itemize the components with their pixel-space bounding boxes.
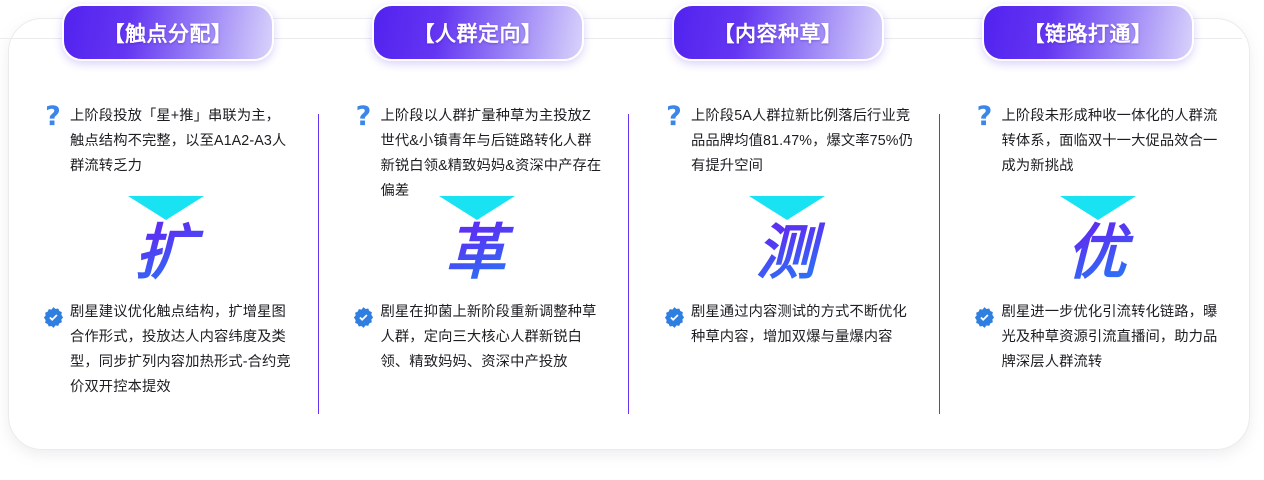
verified-check-icon xyxy=(347,300,381,329)
stage-column-4: ? 上阶段未形成种收一体化的人群流转体系，面临双十一大促品效合一成为新挑战 优 … xyxy=(940,18,1251,450)
stage-column-2: ? 上阶段以人群扩量种草为主投放Z世代&小镇青年与后链路转化人群新锐白领&精致妈… xyxy=(319,18,630,450)
verified-check-icon xyxy=(968,300,1002,329)
problem-text-1: 上阶段投放「星+推」串联为主，触点结构不完整，以至A1A2-A3人群流转乏力 xyxy=(70,104,294,179)
solution-text-2: 剧星在抑菌上新阶段重新调整种草人群，定向三大核心人群新锐白领、精致妈妈、资深中产… xyxy=(381,300,605,375)
stage-glyph-4: 优 xyxy=(1032,218,1162,288)
question-mark-icon: ? xyxy=(36,104,70,128)
verified-check-icon xyxy=(657,300,691,329)
problem-text-4: 上阶段未形成种收一体化的人群流转体系，面临双十一大促品效合一成为新挑战 xyxy=(1002,104,1226,179)
question-mark-icon: ? xyxy=(968,104,1002,128)
stage-glyph-1: 扩 xyxy=(100,218,230,288)
solution-block-4: 剧星进一步优化引流转化链路，曝光及种草资源引流直播间，助力品牌深层人群流转 xyxy=(968,300,1226,375)
solution-text-4: 剧星进一步优化引流转化链路，曝光及种草资源引流直播间，助力品牌深层人群流转 xyxy=(1002,300,1226,375)
question-mark-icon: ? xyxy=(347,104,381,128)
stage-column-1: ? 上阶段投放「星+推」串联为主，触点结构不完整，以至A1A2-A3人群流转乏力… xyxy=(8,18,319,450)
stage-column-3: ? 上阶段5A人群拉新比例落后行业竞品品牌均值81.47%，爆文率75%仍有提升… xyxy=(629,18,940,450)
problem-block-4: ? 上阶段未形成种收一体化的人群流转体系，面临双十一大促品效合一成为新挑战 xyxy=(968,104,1226,179)
solution-block-1: 剧星建议优化触点结构，扩增星图合作形式，投放达人内容纬度及类型，同步扩列内容加热… xyxy=(36,300,294,400)
verified-check-icon xyxy=(36,300,70,329)
stage-glyph-3: 测 xyxy=(721,218,851,288)
stage-columns: ? 上阶段投放「星+推」串联为主，触点结构不完整，以至A1A2-A3人群流转乏力… xyxy=(8,18,1250,450)
down-triangle-icon-1 xyxy=(128,196,204,220)
solution-text-3: 剧星通过内容测试的方式不断优化种草内容，增加双爆与量爆内容 xyxy=(691,300,915,350)
problem-block-1: ? 上阶段投放「星+推」串联为主，触点结构不完整，以至A1A2-A3人群流转乏力 xyxy=(36,104,294,179)
solution-text-1: 剧星建议优化触点结构，扩增星图合作形式，投放达人内容纬度及类型，同步扩列内容加热… xyxy=(70,300,294,400)
problem-block-2: ? 上阶段以人群扩量种草为主投放Z世代&小镇青年与后链路转化人群新锐白领&精致妈… xyxy=(347,104,605,204)
problem-text-3: 上阶段5A人群拉新比例落后行业竞品品牌均值81.47%，爆文率75%仍有提升空间 xyxy=(691,104,915,179)
question-mark-icon: ? xyxy=(657,104,691,128)
problem-block-3: ? 上阶段5A人群拉新比例落后行业竞品品牌均值81.47%，爆文率75%仍有提升… xyxy=(657,104,915,179)
infographic-stage: 【触点分配】 【人群定向】 【内容种草】 【链路打通】 ? 上阶段投放「星+推」… xyxy=(0,0,1264,480)
problem-text-2: 上阶段以人群扩量种草为主投放Z世代&小镇青年与后链路转化人群新锐白领&精致妈妈&… xyxy=(381,104,605,204)
solution-block-2: 剧星在抑菌上新阶段重新调整种草人群，定向三大核心人群新锐白领、精致妈妈、资深中产… xyxy=(347,300,605,375)
stage-glyph-2: 革 xyxy=(411,218,541,288)
solution-block-3: 剧星通过内容测试的方式不断优化种草内容，增加双爆与量爆内容 xyxy=(657,300,915,350)
down-triangle-icon-2 xyxy=(439,196,515,220)
down-triangle-icon-4 xyxy=(1060,196,1136,220)
down-triangle-icon-3 xyxy=(749,196,825,220)
